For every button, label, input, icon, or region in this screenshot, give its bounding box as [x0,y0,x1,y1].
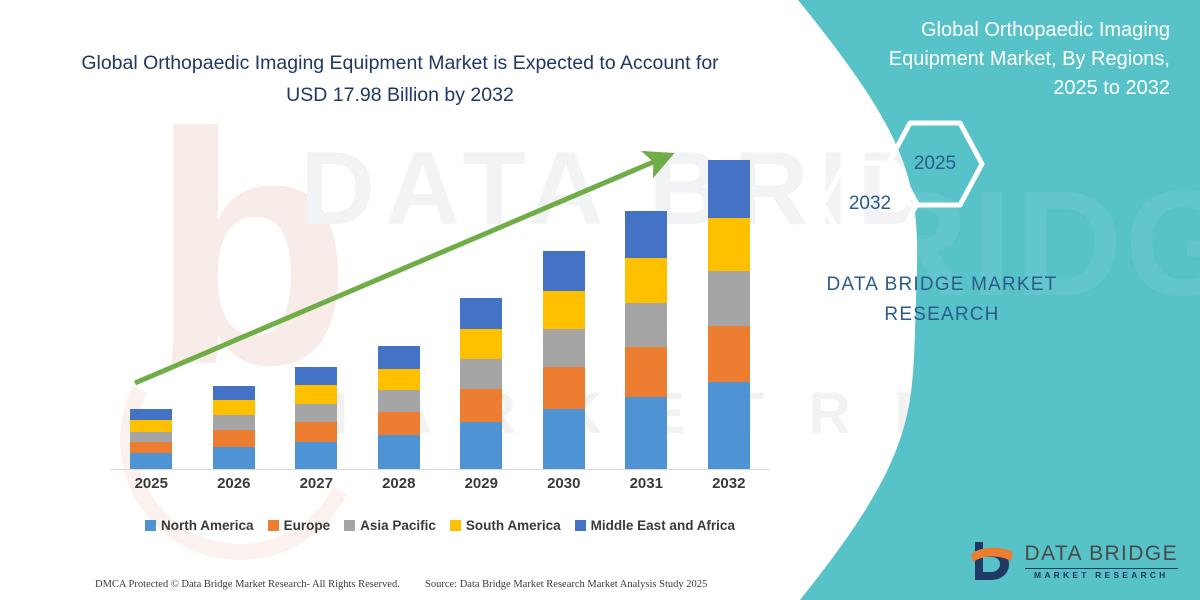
brand-line-2: RESEARCH [792,300,1092,330]
bar-segment[interactable] [625,211,667,257]
bar-segment[interactable] [213,430,255,447]
hexagon-2032: 2032 [820,160,920,248]
legend-swatch-icon [268,520,279,531]
bar-segment[interactable] [708,326,750,382]
bar-2026[interactable] [213,386,255,470]
legend-swatch-icon [344,520,355,531]
bar-segment[interactable] [213,386,255,401]
bar-2032[interactable] [708,160,750,470]
legend-label: South America [466,518,561,533]
legend-item-europe[interactable]: Europe [268,518,331,533]
bar-segment[interactable] [708,382,750,470]
infographic-root: b DATA BRIDGE M A R K E T R E S E A R C … [0,0,1200,600]
bar-segment[interactable] [130,420,172,432]
brand-name: DATA BRIDGE MARKET RESEARCH [792,270,1092,331]
source-note: Source: Data Bridge Market Research Mark… [425,579,707,590]
legend-item-asia-pacific[interactable]: Asia Pacific [344,518,436,533]
logo-mark-icon [971,538,1015,584]
bar-segment[interactable] [460,389,502,422]
logo-divider [1025,568,1178,569]
legend-item-middle-east-and-africa[interactable]: Middle East and Africa [575,518,735,533]
bar-2027[interactable] [295,367,337,470]
bar-2029[interactable] [460,298,502,470]
legend-swatch-icon [450,520,461,531]
bar-segment[interactable] [708,271,750,326]
bar-segment[interactable] [460,422,502,470]
bar-segment[interactable] [295,367,337,385]
bar-segment[interactable] [460,359,502,389]
bar-segment[interactable] [543,329,585,367]
x-axis-label-2032: 2032 [699,475,759,492]
legend-label: Europe [284,518,331,533]
logo-sub-text: MARKET RESEARCH [1025,571,1178,580]
bar-2025[interactable] [130,409,172,470]
x-axis-label-2025: 2025 [121,475,181,492]
bar-segment[interactable] [378,390,420,412]
stacked-bar-chart [110,140,770,470]
x-axis-label-2027: 2027 [286,475,346,492]
bar-segment[interactable] [130,453,172,470]
bar-segment[interactable] [130,442,172,454]
data-bridge-logo: DATA BRIDGE MARKET RESEARCH [971,538,1178,584]
bar-segment[interactable] [708,160,750,218]
brand-line-1: DATA BRIDGE MARKET [792,270,1092,300]
bar-2028[interactable] [378,346,420,470]
x-axis-line [110,469,770,470]
legend-label: North America [161,518,254,533]
logo-main-text: DATA BRIDGE [1025,543,1178,565]
dmca-notice: DMCA Protected © Data Bridge Market Rese… [95,579,400,590]
bar-segment[interactable] [708,218,750,271]
bar-segment[interactable] [295,442,337,470]
logo-text-block: DATA BRIDGE MARKET RESEARCH [1025,543,1178,580]
x-axis-label-2031: 2031 [616,475,676,492]
legend-swatch-icon [145,520,156,531]
bar-segment[interactable] [378,435,420,470]
bar-segment[interactable] [295,422,337,442]
bar-segment[interactable] [460,329,502,359]
bar-2030[interactable] [543,251,585,470]
bar-segment[interactable] [625,258,667,303]
bar-segment[interactable] [130,432,172,442]
bar-segment[interactable] [378,412,420,435]
bar-segment[interactable] [295,404,337,422]
chart-plot-area [110,140,770,470]
bar-segment[interactable] [460,298,502,329]
bar-segment[interactable] [130,409,172,421]
bar-2031[interactable] [625,211,667,470]
bar-segment[interactable] [213,447,255,470]
teal-panel-content: BRIDGE Global Orthopaedic Imaging Equipm… [770,0,1200,600]
legend-item-south-america[interactable]: South America [450,518,561,533]
bar-segment[interactable] [543,291,585,329]
bar-segment[interactable] [543,251,585,291]
legend-swatch-icon [575,520,586,531]
x-axis-label-2028: 2028 [369,475,429,492]
x-axis-label-2029: 2029 [451,475,511,492]
bar-segment[interactable] [378,369,420,391]
panel-title: Global Orthopaedic Imaging Equipment Mar… [880,16,1170,103]
x-axis-label-2030: 2030 [534,475,594,492]
hexagon-year-group: 2025 2032 [810,120,1030,260]
legend-label: Middle East and Africa [591,518,735,533]
bar-segment[interactable] [543,367,585,408]
bar-segment[interactable] [213,400,255,415]
bar-segment[interactable] [625,397,667,470]
bar-segment[interactable] [543,409,585,470]
hexagon-2032-label: 2032 [820,160,920,248]
legend-label: Asia Pacific [360,518,436,533]
bar-segment[interactable] [625,347,667,397]
bar-segment[interactable] [625,303,667,348]
x-axis-labels: 20252026202720282029203020312032 [110,475,770,492]
bar-segment[interactable] [378,346,420,369]
chart-legend: North AmericaEuropeAsia PacificSouth Ame… [110,518,770,533]
page-title: Global Orthopaedic Imaging Equipment Mar… [60,48,740,111]
bar-segment[interactable] [295,385,337,403]
bar-segment[interactable] [213,415,255,430]
x-axis-label-2026: 2026 [204,475,264,492]
legend-item-north-america[interactable]: North America [145,518,254,533]
